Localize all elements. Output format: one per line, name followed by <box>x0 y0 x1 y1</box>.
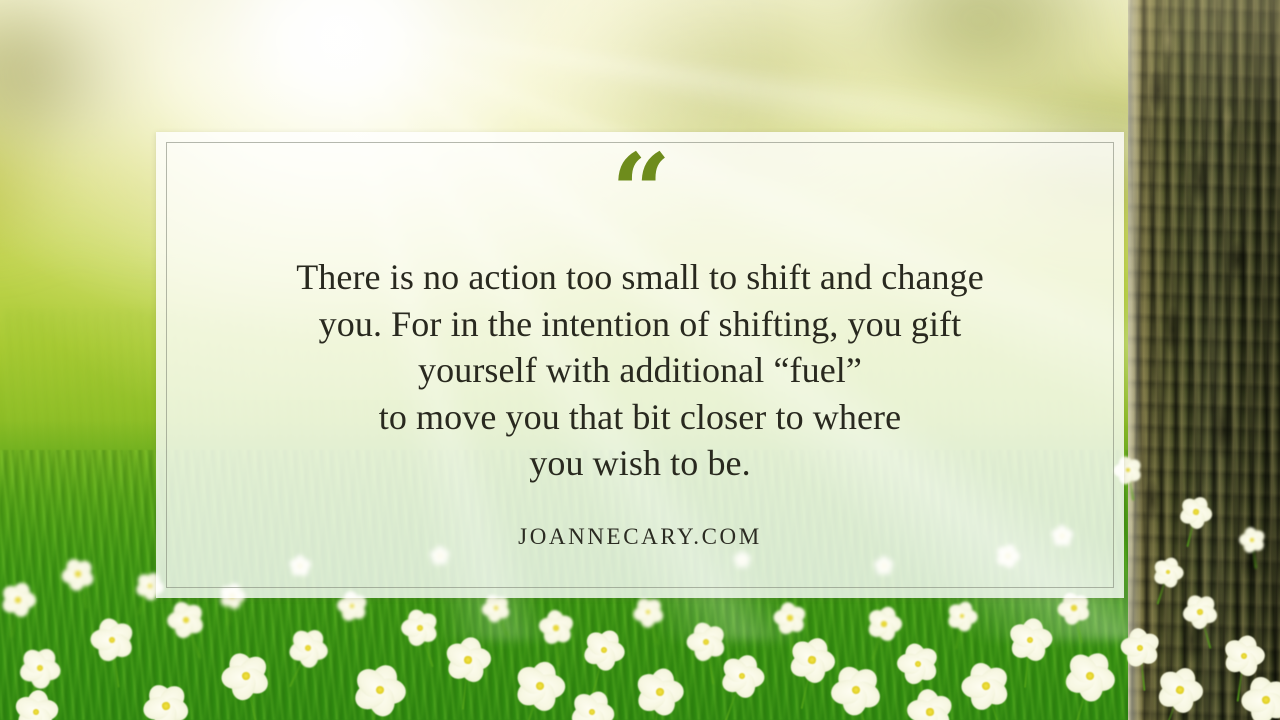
quote-line: you wish to be. <box>166 440 1114 487</box>
quotation-mark-icon: “ <box>611 160 669 232</box>
quote-line: There is no action too small to shift an… <box>166 254 1114 301</box>
quote-card: “ There is no action too small to shift … <box>156 132 1124 598</box>
flower-center <box>808 656 816 664</box>
quote-line: you. For in the intention of shifting, y… <box>166 301 1114 348</box>
bark-rim-light <box>1128 0 1142 720</box>
quote-text: There is no action too small to shift an… <box>166 254 1114 487</box>
card-content: “ There is no action too small to shift … <box>166 142 1114 588</box>
flower-center <box>15 597 21 603</box>
flower-center <box>787 615 793 621</box>
attribution-website: JOANNECARY.COM <box>518 524 762 550</box>
flower-center <box>656 688 664 696</box>
quote-line: to move you that bit closer to where <box>166 394 1114 441</box>
quote-graphic-canvas: “ There is no action too small to shift … <box>0 0 1280 720</box>
flower-center <box>553 625 559 631</box>
anemone-flower <box>539 611 573 645</box>
quote-line: yourself with additional “fuel” <box>166 347 1114 394</box>
flower-center <box>1071 605 1077 611</box>
flower-center <box>464 656 472 664</box>
flower-center <box>926 708 934 716</box>
anemone-flower <box>774 602 807 635</box>
